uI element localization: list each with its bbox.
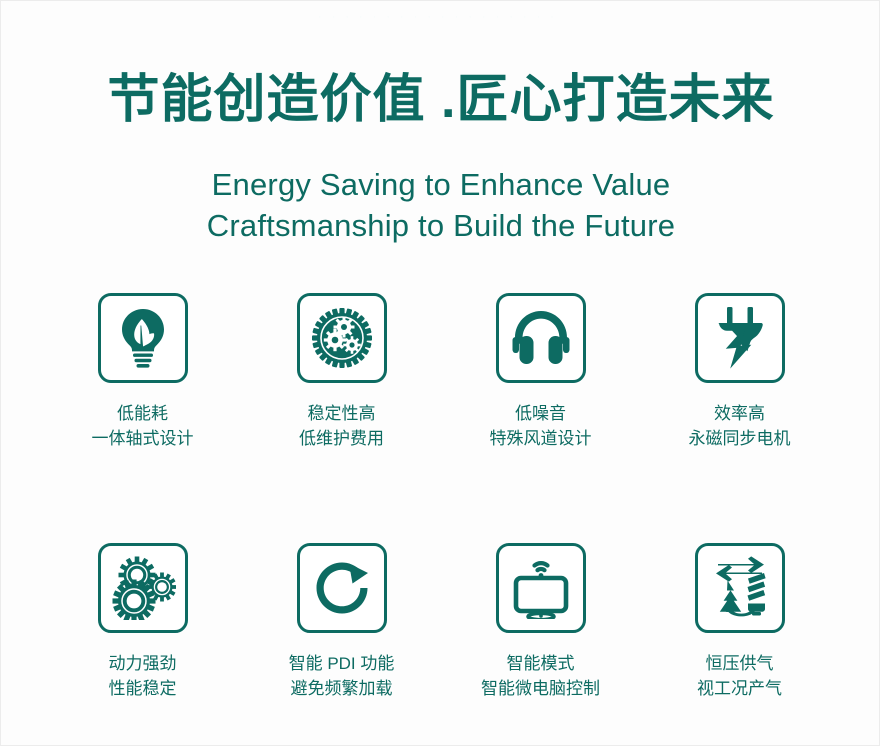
refresh-arrow-icon bbox=[311, 557, 373, 619]
feature-caption-line-2: 永磁同步电机 bbox=[689, 426, 791, 451]
feature-icon-box bbox=[98, 293, 188, 383]
feature-icon-box bbox=[496, 543, 586, 633]
feature-caption-line-2: 低维护费用 bbox=[299, 426, 384, 451]
feature-item: 低能耗 一体轴式设计 bbox=[43, 293, 242, 451]
feature-caption-line-2: 性能稳定 bbox=[109, 676, 177, 701]
feature-item: 智能 PDI 功能 避免频繁加载 bbox=[242, 543, 441, 701]
feature-caption-line-2: 特殊风道设计 bbox=[490, 426, 592, 451]
feature-icon-box bbox=[695, 293, 785, 383]
feature-caption: 动力强劲 性能稳定 bbox=[109, 651, 177, 701]
feature-item: 低噪音 特殊风道设计 bbox=[441, 293, 640, 451]
feature-caption-line-2: 视工况产气 bbox=[697, 676, 782, 701]
feature-item: 效率高 永磁同步电机 bbox=[640, 293, 839, 451]
feature-caption: 恒压供气 视工况产气 bbox=[697, 651, 782, 701]
feature-icon-box bbox=[297, 293, 387, 383]
promo-feature-banner: ·················· 节能创造价值 .匠心打造未来 Energy… bbox=[0, 0, 880, 746]
feature-caption-line-1: 动力强劲 bbox=[109, 651, 177, 676]
feature-row-2: 动力强劲 性能稳定 智能 PDI 功能 避免频繁加载 bbox=[1, 543, 880, 701]
subtitle-line-2: Craftsmanship to Build the Future bbox=[1, 205, 880, 246]
feature-icon-box bbox=[496, 293, 586, 383]
headphones-icon bbox=[509, 309, 573, 367]
page-title: 节能创造价值 .匠心打造未来 bbox=[1, 67, 880, 133]
feature-caption-line-2: 避免频繁加载 bbox=[289, 676, 395, 701]
feature-caption-line-1: 效率高 bbox=[689, 401, 791, 426]
background-watermark: ·················· bbox=[1, 11, 880, 23]
feature-caption-line-1: 稳定性高 bbox=[299, 401, 384, 426]
feature-caption: 低噪音 特殊风道设计 bbox=[490, 401, 592, 451]
feature-item: 恒压供气 视工况产气 bbox=[640, 543, 839, 701]
feature-grid: 低能耗 一体轴式设计 bbox=[1, 293, 880, 701]
feature-caption: 智能模式 智能微电脑控制 bbox=[481, 651, 600, 701]
feature-caption: 效率高 永磁同步电机 bbox=[689, 401, 791, 451]
smart-monitor-wifi-icon bbox=[508, 557, 574, 619]
feature-icon-box bbox=[695, 543, 785, 633]
subtitle-line-1: Energy Saving to Enhance Value bbox=[1, 164, 880, 205]
feature-caption: 稳定性高 低维护费用 bbox=[299, 401, 384, 451]
feature-icon-box bbox=[297, 543, 387, 633]
page-subtitle: Energy Saving to Enhance Value Craftsman… bbox=[1, 164, 880, 246]
feature-caption-line-1: 智能 PDI 功能 bbox=[289, 651, 395, 676]
power-plug-bolt-icon bbox=[711, 305, 769, 371]
feature-caption-line-1: 低能耗 bbox=[92, 401, 194, 426]
feature-item: 动力强劲 性能稳定 bbox=[43, 543, 242, 701]
feature-caption: 低能耗 一体轴式设计 bbox=[92, 401, 194, 451]
feature-caption-line-2: 智能微电脑控制 bbox=[481, 676, 600, 701]
feature-icon-box bbox=[98, 543, 188, 633]
gear-cluster-circle-icon bbox=[311, 307, 373, 369]
eco-lightbulb-icon bbox=[114, 307, 172, 369]
feature-caption-line-1: 恒压供气 bbox=[697, 651, 782, 676]
feature-item: 智能模式 智能微电脑控制 bbox=[441, 543, 640, 701]
feature-caption-line-1: 智能模式 bbox=[481, 651, 600, 676]
feature-caption-line-2: 一体轴式设计 bbox=[92, 426, 194, 451]
feature-row-1: 低能耗 一体轴式设计 bbox=[1, 293, 880, 451]
feature-item: 稳定性高 低维护费用 bbox=[242, 293, 441, 451]
three-gears-icon bbox=[110, 556, 176, 620]
feature-caption: 智能 PDI 功能 避免频繁加载 bbox=[289, 651, 395, 701]
tree-cfl-exchange-icon bbox=[708, 556, 772, 620]
feature-caption-line-1: 低噪音 bbox=[490, 401, 592, 426]
